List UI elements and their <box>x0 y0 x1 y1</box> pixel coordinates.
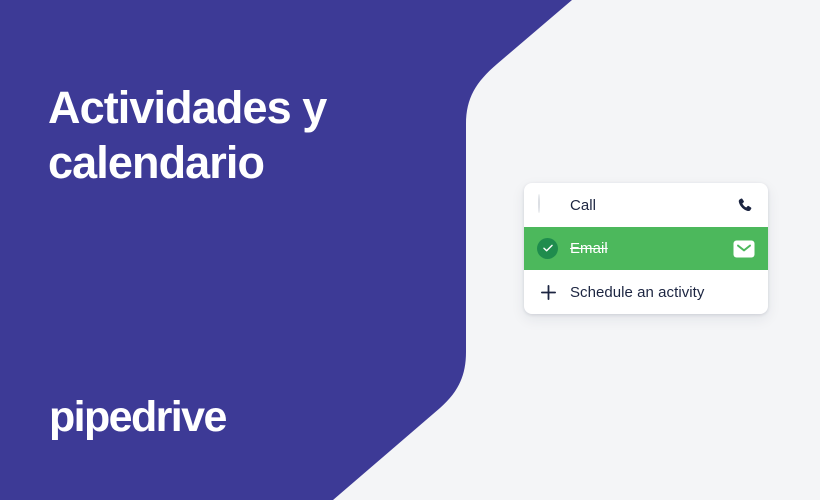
activity-row-label: Email <box>570 240 732 257</box>
activity-row-email[interactable]: Email <box>524 227 768 270</box>
check-circle-filled-icon[interactable] <box>538 239 558 259</box>
slide-canvas: Actividades y calendario pipedrive Call <box>0 0 820 500</box>
envelope-icon[interactable] <box>732 237 756 261</box>
circle-outline-icon[interactable] <box>538 195 558 215</box>
page-title: Actividades y calendario <box>48 80 448 190</box>
activity-row-call[interactable]: Call <box>524 183 768 227</box>
schedule-activity-button[interactable]: Schedule an activity <box>524 270 768 314</box>
activity-row-label: Schedule an activity <box>570 284 756 301</box>
plus-icon[interactable] <box>538 282 558 302</box>
phone-icon[interactable] <box>732 193 756 217</box>
activity-row-label: Call <box>570 197 732 214</box>
activity-list-card: Call Email <box>524 183 768 314</box>
pipedrive-logo: pipedrive <box>49 392 226 442</box>
